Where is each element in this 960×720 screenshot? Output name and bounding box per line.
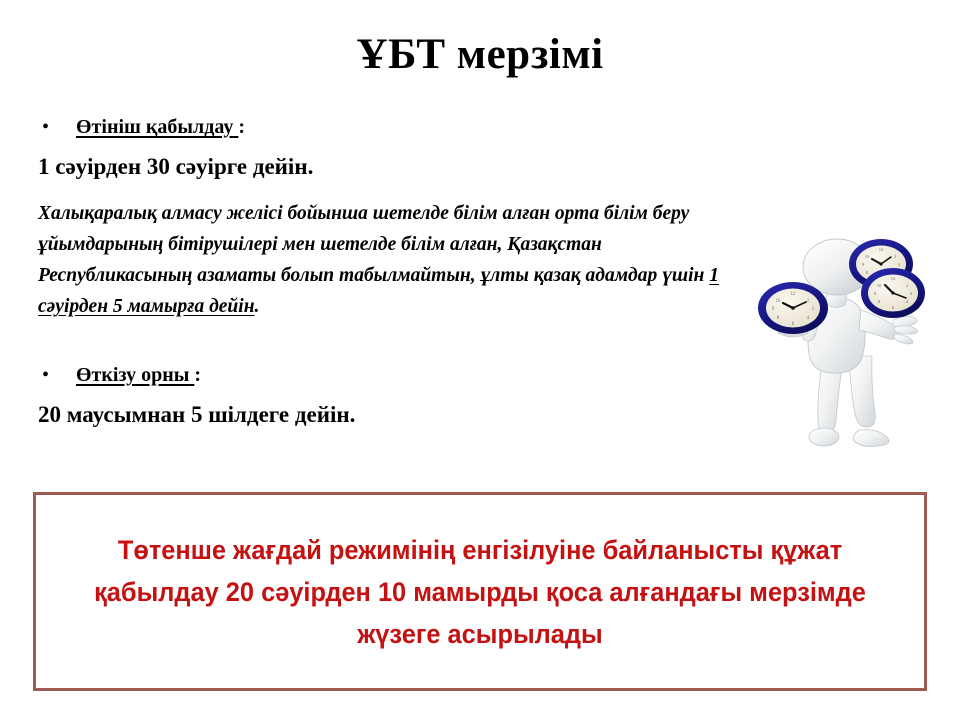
bullet-row: • Өткізу орны : [38, 360, 738, 390]
section-heading-colon: : [238, 116, 245, 138]
note-prefix-text: Халықаралық алмасу желісі бойынша шетелд… [38, 203, 709, 286]
bullet-row: • Өтініш қабылдау : [38, 112, 738, 142]
page-title: ҰБТ мерзімі [0, 30, 960, 80]
section-exam-location: • Өткізу орны : 20 маусымнан 5 шілдеге д… [38, 360, 738, 432]
section-heading-text: Өткізу орны [76, 364, 189, 386]
svg-text:10: 10 [865, 254, 870, 259]
section-heading: Өткізу орны : [76, 360, 201, 390]
section-heading: Өтініш қабылдау : [76, 112, 245, 142]
section-application-acceptance: • Өтініш қабылдау : 1 сәуірден 30 сәуірг… [38, 112, 738, 322]
svg-text:10: 10 [877, 283, 882, 288]
emergency-notice-box: Төтенше жағдай режимінің енгізілуіне бай… [33, 492, 927, 691]
section-heading-colon: : [194, 364, 201, 386]
note-suffix-text: . [255, 296, 260, 317]
application-date-range: 1 сәуірден 30 сәуірге дейін. [38, 150, 738, 184]
emergency-notice-text: Төтенше жағдай режимінің енгізілуіне бай… [81, 529, 880, 655]
notice-line-2: қабылдау 20 сәуірден 10 мамырды қоса алғ… [90, 571, 870, 613]
section-heading-text: Өтініш қабылдау [76, 116, 233, 138]
notice-line-1: Төтенше жағдай режимінің енгізілуіне бай… [90, 529, 870, 571]
content-column: • Өтініш қабылдау : 1 сәуірден 30 сәуірг… [38, 112, 738, 432]
mannequin-with-clocks-illustration: 122 34 68 910 122 34 68 910 [745, 238, 960, 453]
exchange-students-note: Халықаралық алмасу желісі бойынша шетелд… [38, 198, 738, 322]
bullet-dot-icon: • [38, 112, 76, 142]
svg-text:12: 12 [791, 292, 796, 297]
clock-mid-right-icon: 122 34 68 910 [861, 268, 925, 318]
figure-hand [893, 316, 917, 344]
svg-text:12: 12 [891, 276, 896, 281]
notice-line-3: жүзеге асырылады [90, 613, 870, 655]
exam-date-range: 20 маусымнан 5 шілдеге дейін. [38, 398, 738, 432]
svg-text:12: 12 [879, 247, 884, 252]
svg-text:10: 10 [776, 299, 781, 304]
bullet-dot-icon: • [38, 360, 76, 390]
